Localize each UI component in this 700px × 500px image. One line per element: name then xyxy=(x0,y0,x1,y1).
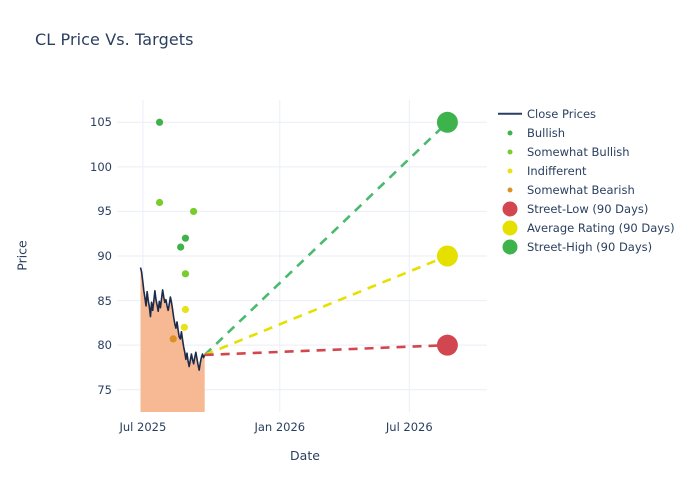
legend-item-label: Bullish xyxy=(523,126,565,140)
rating-point-marker[interactable] xyxy=(181,324,188,331)
rating-point-marker[interactable] xyxy=(182,235,189,242)
dot-swatch-icon xyxy=(503,220,518,235)
legend-item-label: Indifferent xyxy=(523,164,587,178)
legend-item[interactable]: Somewhat Bearish xyxy=(497,180,697,199)
rating-point-marker[interactable] xyxy=(170,335,177,342)
chart-container: CL Price Vs. Targets 7580859095100105 Ju… xyxy=(0,0,700,500)
legend-dot-swatch xyxy=(497,123,523,142)
legend-line-swatch xyxy=(497,104,523,123)
rating-point-marker[interactable] xyxy=(177,243,184,250)
legend-dot-swatch xyxy=(497,218,523,237)
legend-item[interactable]: Somewhat Bullish xyxy=(497,142,697,161)
y-axis-title: Price xyxy=(15,226,30,286)
legend-item-label: Average Rating (90 Days) xyxy=(523,221,675,235)
y-axis-tick-label: 95 xyxy=(60,204,112,218)
y-axis-tick-label: 90 xyxy=(60,249,112,263)
rating-point-marker[interactable] xyxy=(156,119,163,126)
dot-swatch-icon xyxy=(508,168,513,173)
legend-item-label: Somewhat Bearish xyxy=(523,183,635,197)
legend-item[interactable]: Street-High (90 Days) xyxy=(497,237,697,256)
target-price-marker[interactable] xyxy=(437,246,458,267)
rating-point-marker[interactable] xyxy=(182,306,189,313)
legend-item[interactable]: Close Prices xyxy=(497,104,697,123)
rating-point-marker[interactable] xyxy=(182,270,189,277)
projection-line[interactable] xyxy=(205,122,448,355)
y-axis-tick-label: 105 xyxy=(60,115,112,129)
y-axis-tick-label: 85 xyxy=(60,294,112,308)
x-axis-tick-label: Jul 2026 xyxy=(386,420,433,434)
legend-item-label: Street-High (90 Days) xyxy=(523,240,652,254)
y-axis-tick-label: 100 xyxy=(60,160,112,174)
rating-point-marker[interactable] xyxy=(156,199,163,206)
dot-swatch-icon xyxy=(508,187,513,192)
legend-dot-swatch xyxy=(497,161,523,180)
legend-dot-swatch xyxy=(497,199,523,218)
rating-point-marker[interactable] xyxy=(190,208,197,215)
target-price-marker[interactable] xyxy=(437,112,458,133)
legend-dot-swatch xyxy=(497,237,523,256)
legend-item-label: Street-Low (90 Days) xyxy=(523,202,648,216)
chart-legend: Close PricesBullishSomewhat BullishIndif… xyxy=(497,104,697,256)
x-axis-tick-label: Jul 2025 xyxy=(119,420,166,434)
target-price-marker[interactable] xyxy=(437,335,458,356)
dot-swatch-icon xyxy=(508,149,513,154)
x-axis-title: Date xyxy=(120,448,490,463)
legend-item[interactable]: Bullish xyxy=(497,123,697,142)
projection-line[interactable] xyxy=(205,256,448,355)
dot-swatch-icon xyxy=(503,239,518,254)
legend-item[interactable]: Indifferent xyxy=(497,161,697,180)
y-axis-tick-label: 75 xyxy=(60,383,112,397)
y-axis-ticks: 7580859095100105 xyxy=(60,0,112,500)
line-swatch-icon xyxy=(498,112,522,115)
x-axis-tick-label: Jan 2026 xyxy=(254,420,305,434)
projection-line[interactable] xyxy=(205,345,448,355)
legend-dot-swatch xyxy=(497,180,523,199)
legend-item[interactable]: Average Rating (90 Days) xyxy=(497,218,697,237)
dot-swatch-icon xyxy=(503,201,518,216)
legend-item[interactable]: Street-Low (90 Days) xyxy=(497,199,697,218)
y-axis-tick-label: 80 xyxy=(60,338,112,352)
legend-dot-swatch xyxy=(497,142,523,161)
legend-item-label: Somewhat Bullish xyxy=(523,145,630,159)
legend-item-label: Close Prices xyxy=(523,107,596,121)
dot-swatch-icon xyxy=(508,130,513,135)
